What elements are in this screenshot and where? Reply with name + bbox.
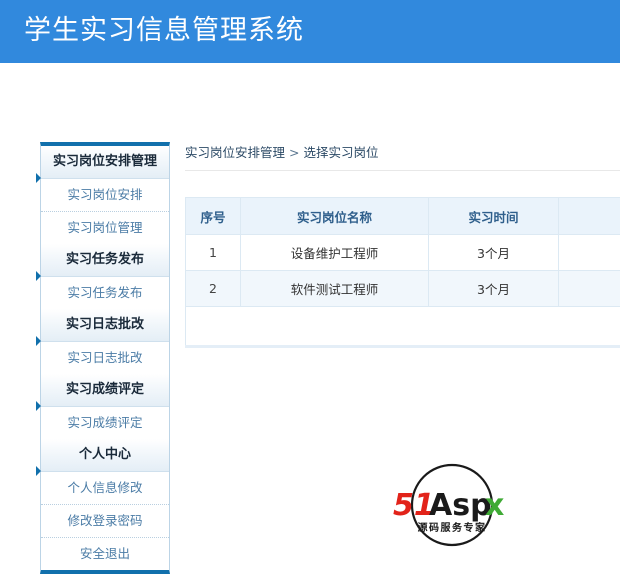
- sidebar-item-logout[interactable]: 安全退出: [41, 538, 169, 570]
- app-title: 学生实习信息管理系统: [24, 12, 304, 50]
- triangle-marker-icon: [36, 173, 41, 183]
- pagination-area[interactable]: [186, 307, 620, 347]
- sidebar: 实习岗位安排管理 实习岗位安排 实习岗位管理 实习任务发布 实习任务发布 实习日…: [40, 142, 170, 574]
- sidebar-item-post-manage[interactable]: 实习岗位管理: [41, 212, 169, 244]
- cell-duration: 3个月: [429, 235, 559, 271]
- nav-group-grade-assess: 实习成绩评定 实习成绩评定: [41, 374, 169, 439]
- nav-group-personal-center: 个人中心 个人信息修改 修改登录密码 安全退出: [41, 439, 169, 570]
- sidebar-group-header-task-publish[interactable]: 实习任务发布: [41, 244, 169, 277]
- cell-action[interactable]: [559, 271, 620, 307]
- cell-index: 1: [186, 235, 241, 271]
- breadcrumb-root[interactable]: 实习岗位安排管理: [185, 145, 285, 160]
- sidebar-item-post-arrange[interactable]: 实习岗位安排: [41, 179, 169, 212]
- watermark-logo-51aspx: 51 Asp x 源码服务专家: [387, 459, 517, 551]
- logo-text-asp: Asp: [429, 488, 492, 523]
- sidebar-item-edit-profile[interactable]: 个人信息修改: [41, 472, 169, 505]
- nav-group-internship-post: 实习岗位安排管理 实习岗位安排 实习岗位管理: [41, 146, 169, 244]
- cell-action[interactable]: [559, 235, 620, 271]
- page-body: 实习岗位安排管理 实习岗位安排 实习岗位管理 实习任务发布 实习任务发布 实习日…: [0, 63, 620, 571]
- sidebar-submenu-internship-post: 实习岗位安排 实习岗位管理: [41, 179, 169, 244]
- table-header: 序号 实习岗位名称 实习时间: [186, 198, 620, 235]
- triangle-marker-icon: [36, 336, 41, 346]
- app-header: 学生实习信息管理系统: [0, 0, 620, 63]
- table-row[interactable]: 1 设备维护工程师 3个月: [186, 235, 620, 271]
- logo-text-x: x: [485, 488, 504, 523]
- logo-tagline: 源码服务专家: [418, 521, 487, 534]
- sidebar-submenu-personal-center: 个人信息修改 修改登录密码 安全退出: [41, 472, 169, 570]
- table-row[interactable]: 2 软件测试工程师 3个月: [186, 271, 620, 307]
- table-body: 1 设备维护工程师 3个月 2 软件测试工程师 3个月: [186, 235, 620, 347]
- sidebar-group-header-grade-assess[interactable]: 实习成绩评定: [41, 374, 169, 407]
- column-header-action: [559, 198, 620, 235]
- internship-post-table-wrap: 序号 实习岗位名称 实习时间 1 设备维护工程师 3个月 2: [185, 197, 620, 348]
- cell-index: 2: [186, 271, 241, 307]
- sidebar-group-header-internship-post[interactable]: 实习岗位安排管理: [41, 146, 169, 179]
- sidebar-group-label: 实习成绩评定: [66, 382, 144, 397]
- sidebar-item-journal-review[interactable]: 实习日志批改: [41, 342, 169, 374]
- triangle-marker-icon: [36, 466, 41, 476]
- sidebar-group-header-journal-review[interactable]: 实习日志批改: [41, 309, 169, 342]
- sidebar-group-label: 实习岗位安排管理: [53, 154, 157, 169]
- breadcrumb-current: 选择实习岗位: [304, 145, 379, 160]
- table-header-row: 序号 实习岗位名称 实习时间: [186, 198, 620, 235]
- cell-post-name: 软件测试工程师: [241, 271, 429, 307]
- sidebar-submenu-grade-assess: 实习成绩评定: [41, 407, 169, 439]
- column-header-index: 序号: [186, 198, 241, 235]
- breadcrumb-separator-icon: >: [289, 145, 299, 160]
- cell-duration: 3个月: [429, 271, 559, 307]
- column-header-duration: 实习时间: [429, 198, 559, 235]
- nav-group-journal-review: 实习日志批改 实习日志批改: [41, 309, 169, 374]
- sidebar-submenu-task-publish: 实习任务发布: [41, 277, 169, 309]
- sidebar-group-header-personal-center[interactable]: 个人中心: [41, 439, 169, 472]
- sidebar-group-label: 实习任务发布: [66, 252, 144, 267]
- watermark-svg: 51 Asp x 源码服务专家: [387, 459, 517, 551]
- column-header-post-name: 实习岗位名称: [241, 198, 429, 235]
- sidebar-item-change-password[interactable]: 修改登录密码: [41, 505, 169, 538]
- internship-post-table: 序号 实习岗位名称 实习时间 1 设备维护工程师 3个月 2: [185, 197, 620, 348]
- nav-group-task-publish: 实习任务发布 实习任务发布: [41, 244, 169, 309]
- sidebar-group-label: 实习日志批改: [66, 317, 144, 332]
- table-pagination-row: [186, 307, 620, 347]
- sidebar-item-task-publish[interactable]: 实习任务发布: [41, 277, 169, 309]
- sidebar-submenu-journal-review: 实习日志批改: [41, 342, 169, 374]
- cell-post-name: 设备维护工程师: [241, 235, 429, 271]
- triangle-marker-icon: [36, 401, 41, 411]
- triangle-marker-icon: [36, 271, 41, 281]
- breadcrumb: 实习岗位安排管理>选择实习岗位: [185, 142, 620, 171]
- sidebar-group-label: 个人中心: [79, 447, 131, 462]
- sidebar-item-grade-assess[interactable]: 实习成绩评定: [41, 407, 169, 439]
